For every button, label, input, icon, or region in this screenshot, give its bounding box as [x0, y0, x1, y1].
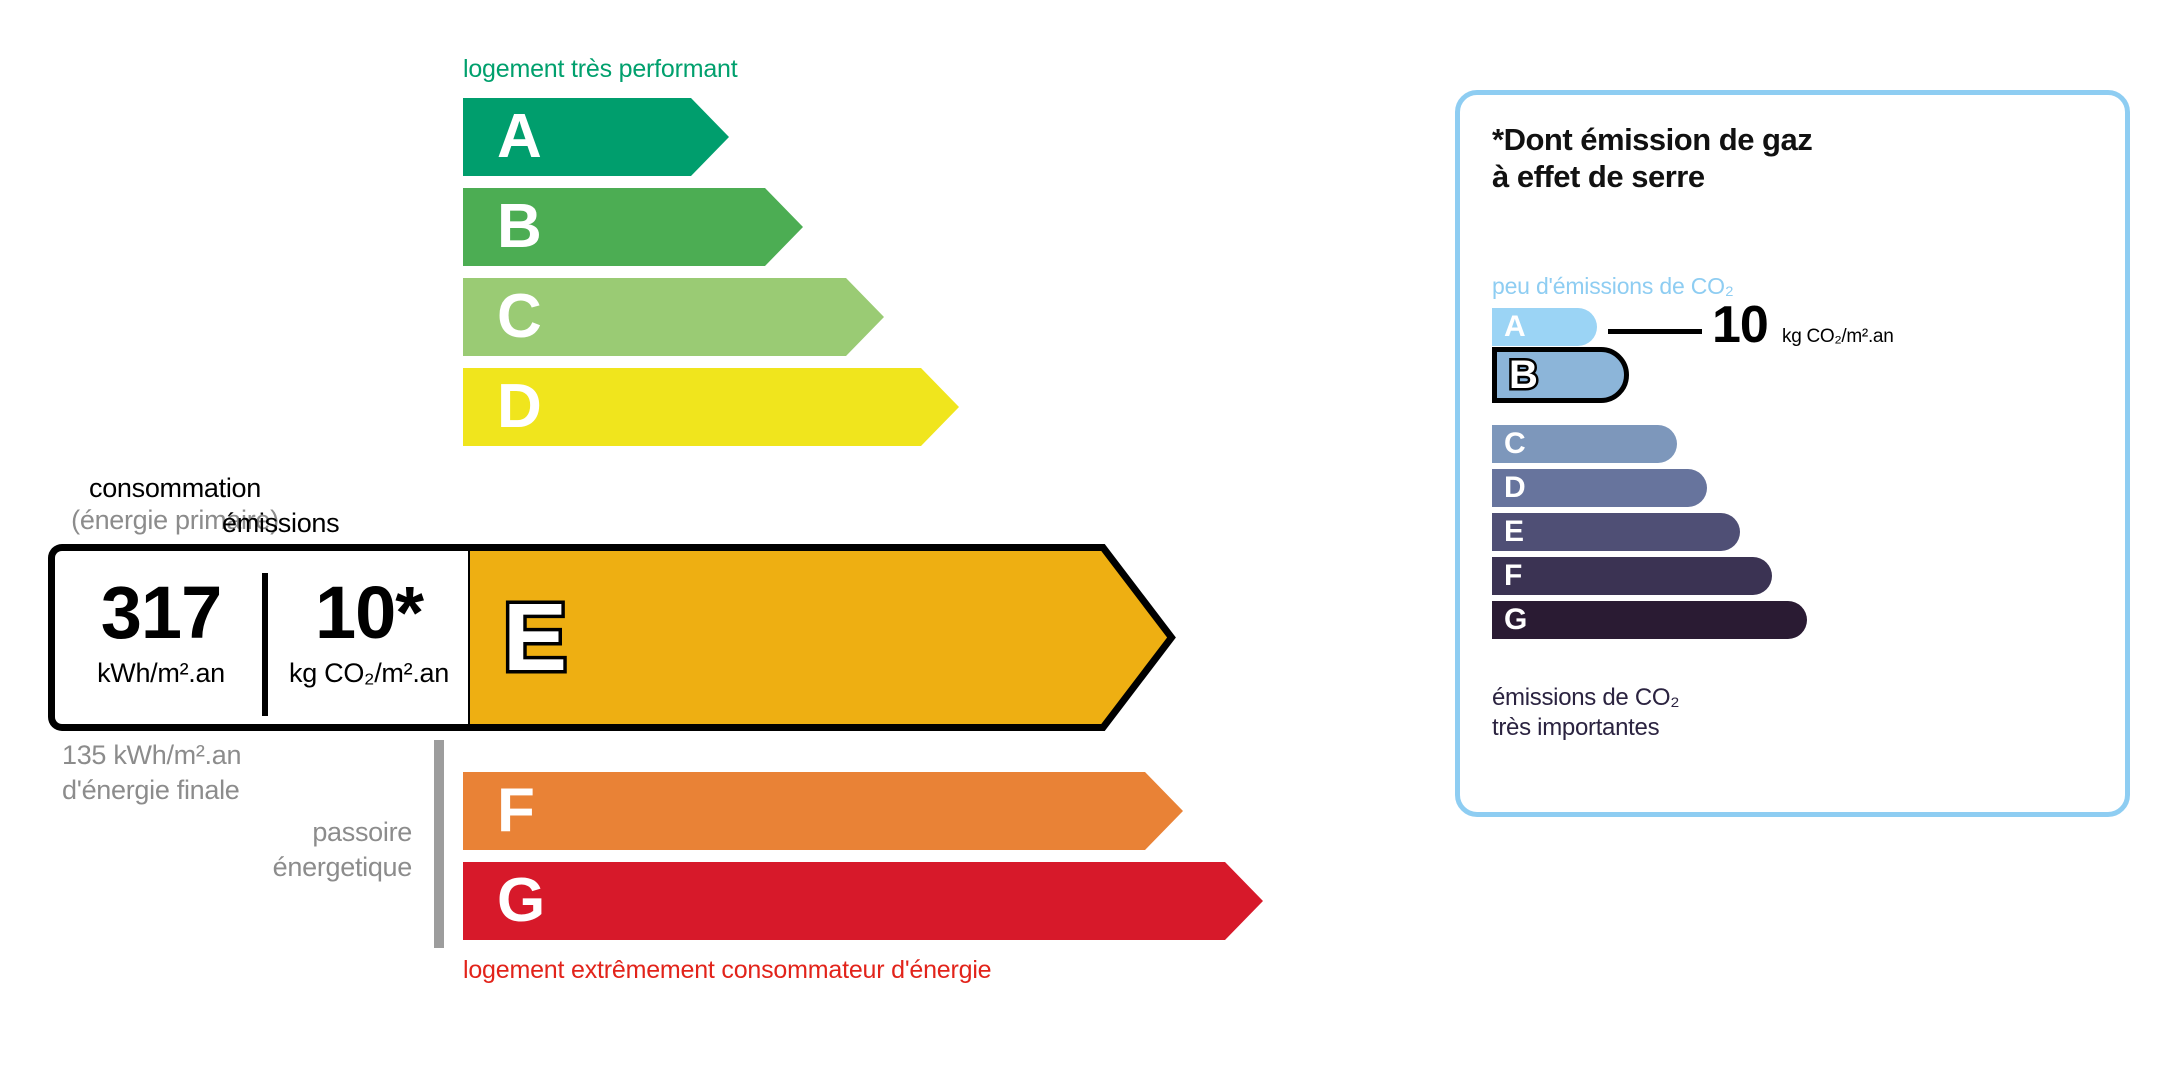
co2-bar-letter-f: F: [1504, 561, 1522, 591]
energy-band-letter-c: C: [497, 286, 542, 348]
energy-band-letter-f: F: [497, 780, 535, 842]
co2-bar-letter-a: A: [1504, 312, 1526, 342]
passoire-marker-bar: [434, 740, 444, 948]
consumption-value-cell: 317 kWh/m².an: [61, 577, 261, 689]
co2-bottom-caption-line1: émissions de CO₂: [1492, 683, 1679, 713]
co2-bar-d: D: [1492, 469, 1707, 507]
co2-value: 10: [1712, 299, 1768, 351]
final-energy-note-line2: d'énergie finale: [62, 773, 241, 808]
energy-band-shape-f: [463, 772, 1183, 850]
co2-bottom-caption: émissions de CO₂ très importantes: [1492, 683, 1679, 743]
emissions-label: émissions: [222, 508, 339, 539]
co2-bar-b: B: [1492, 347, 1629, 403]
energy-band-shape-e: [463, 544, 1175, 731]
co2-bar-c: C: [1492, 425, 1677, 463]
energy-band-d: D: [463, 368, 959, 446]
energy-band-letter-g: G: [497, 870, 545, 932]
energy-performance-chart: logement très performant ABCDEFG logemen…: [0, 0, 1330, 1079]
co2-panel-title: *Dont émission de gaz à effet de serre: [1492, 121, 1812, 195]
energy-band-letter-d: D: [497, 376, 542, 438]
energy-band-letter-b: B: [497, 196, 542, 258]
co2-leader-line: [1608, 329, 1702, 334]
emissions-value-cell: 10* kg CO₂/m².an: [269, 577, 469, 689]
value-box: 317 kWh/m².an 10* kg CO₂/m².an: [48, 544, 468, 731]
co2-top-caption: peu d'émissions de CO₂: [1492, 273, 1734, 300]
co2-bar-a: A: [1492, 308, 1597, 346]
co2-bar-letter-g: G: [1504, 605, 1527, 635]
energy-band-f: F: [463, 772, 1183, 850]
co2-bar-e: E: [1492, 513, 1740, 551]
energy-band-e: E: [463, 544, 1175, 731]
energy-band-shape-g: [463, 862, 1263, 940]
final-energy-note: 135 kWh/m².an d'énergie finale: [62, 738, 241, 808]
consumption-label-title: consommation: [89, 473, 261, 503]
final-energy-note-line1: 135 kWh/m².an: [62, 738, 241, 773]
energy-band-c: C: [463, 278, 884, 356]
consumption-value: 317: [61, 577, 261, 650]
co2-bar-letter-e: E: [1504, 517, 1524, 547]
co2-bar-letter-b: B: [1509, 355, 1538, 395]
co2-panel-title-line1: *Dont émission de gaz: [1492, 121, 1812, 158]
passoire-note: passoire énergetique: [172, 815, 412, 885]
co2-emissions-panel: *Dont émission de gaz à effet de serre p…: [1455, 90, 2130, 817]
co2-bar-letter-d: D: [1504, 473, 1526, 503]
consumption-unit: kWh/m².an: [61, 658, 261, 689]
emissions-unit: kg CO₂/m².an: [269, 658, 469, 689]
chart-bottom-caption: logement extrêmement consommateur d'éner…: [463, 956, 991, 985]
energy-band-g: G: [463, 862, 1263, 940]
chart-top-caption: logement très performant: [463, 55, 738, 84]
co2-bar-g: G: [1492, 601, 1807, 639]
co2-bar-letter-c: C: [1504, 429, 1526, 459]
value-box-divider: [262, 573, 268, 716]
co2-bottom-caption-line2: très importantes: [1492, 713, 1679, 743]
co2-unit: kg CO₂/m².an: [1782, 326, 1893, 348]
energy-band-letter-e: E: [503, 590, 567, 686]
energy-band-b: B: [463, 188, 803, 266]
passoire-note-line2: énergetique: [172, 850, 412, 885]
passoire-note-line1: passoire: [172, 815, 412, 850]
emissions-value: 10*: [269, 577, 469, 650]
energy-band-a: A: [463, 98, 729, 176]
energy-band-letter-a: A: [497, 106, 542, 168]
co2-panel-title-line2: à effet de serre: [1492, 158, 1812, 195]
co2-bar-f: F: [1492, 557, 1772, 595]
